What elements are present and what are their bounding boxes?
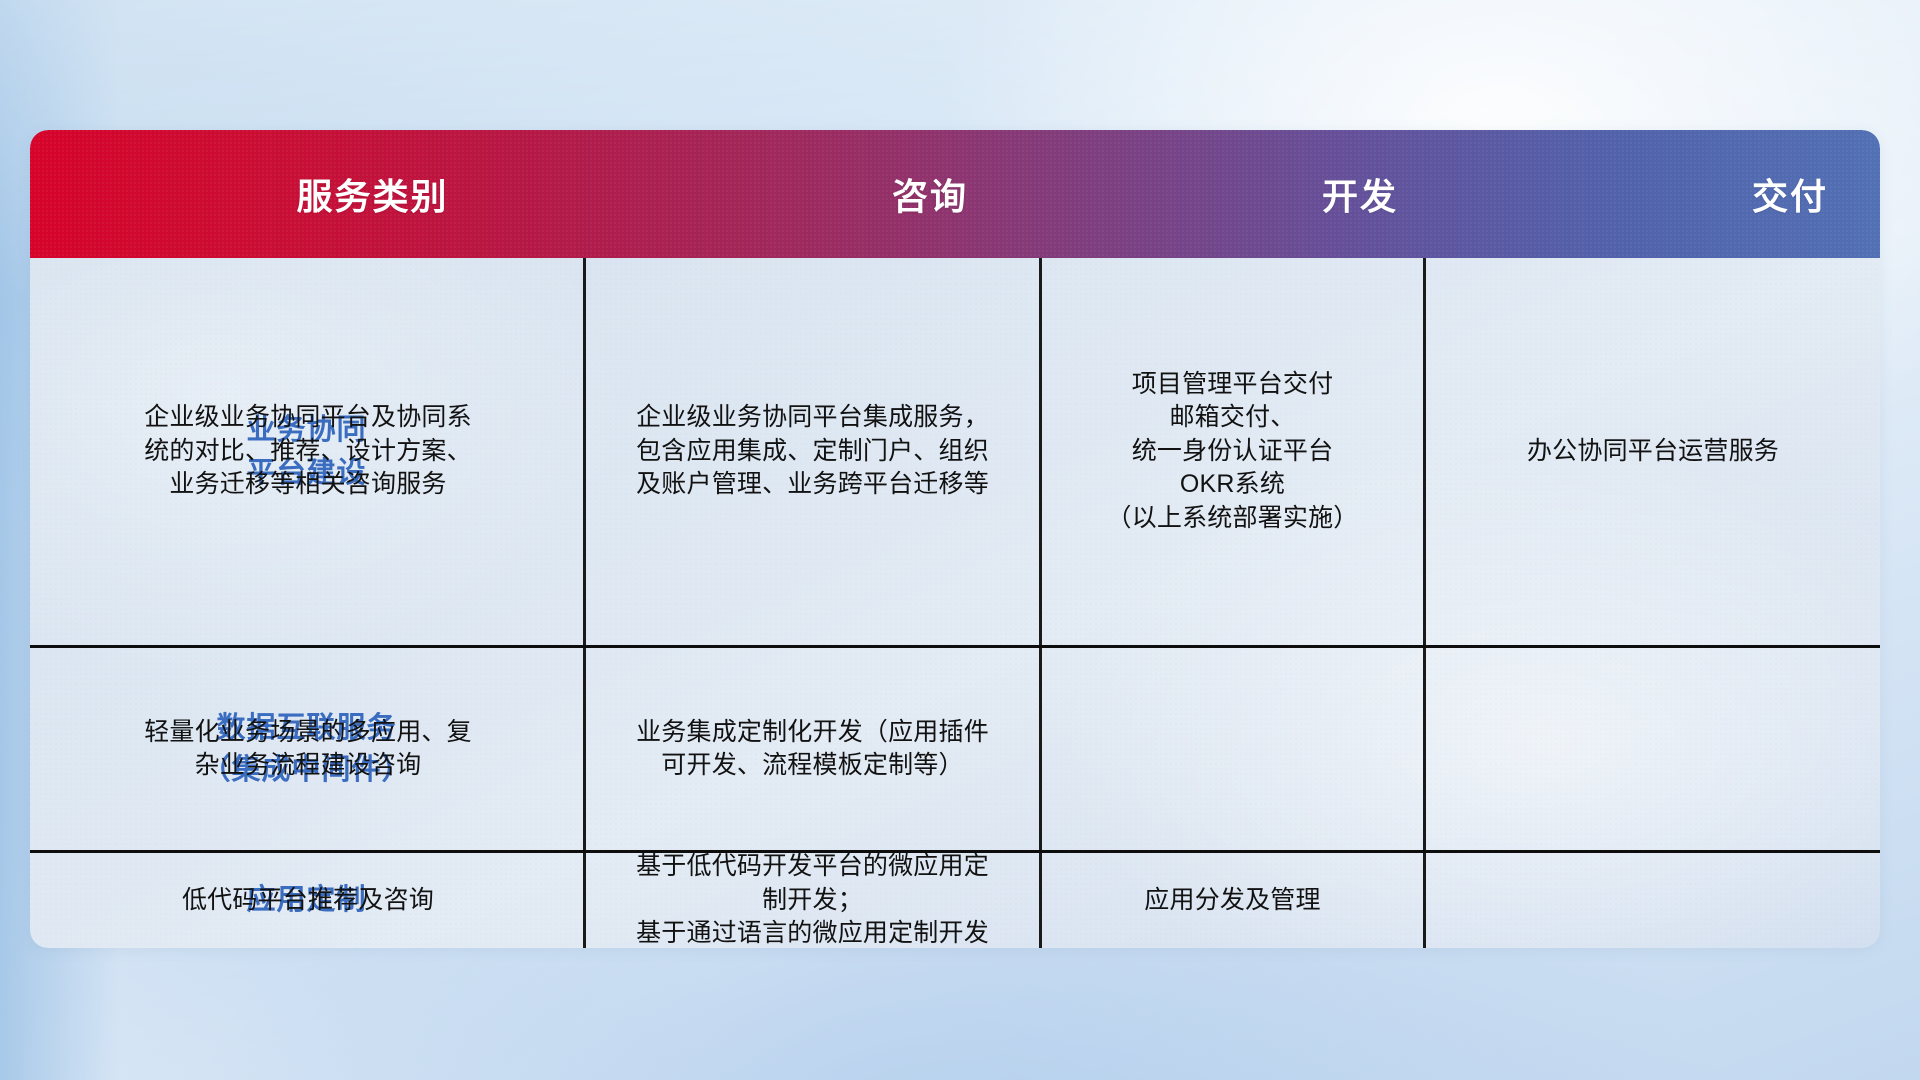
column-header-delivery[interactable]: 交付 — [1575, 130, 1880, 258]
table-header-row: 服务类别 咨询 开发 交付 — [30, 130, 1880, 258]
table-body: 业务协同 平台建设 企业级业务协同平台及协同系 统的对比、推荐、设计方案、 业务… — [30, 258, 1880, 948]
column-header-development[interactable]: 开发 — [1145, 130, 1575, 258]
cell-r3-consulting: 低代码平台推荐及咨询 — [33, 853, 583, 948]
cell-r1-operations: 办公协同平台运营服务 — [1426, 258, 1880, 645]
cell-r2-delivery — [1042, 648, 1423, 850]
cell-r2-consulting: 轻量化业务场景的多应用、复 杂业务流程建设咨询 — [33, 648, 583, 850]
cell-r3-development: 基于低代码开发平台的微应用定 制开发； 基于通过语言的微应用定制开发 — [586, 853, 1039, 948]
services-matrix-table: 服务类别 咨询 开发 交付 业务协同 平台建设 企业级业务协同平台及协同系 统的… — [30, 130, 1880, 948]
cell-r1-consulting: 企业级业务协同平台及协同系 统的对比、推荐、设计方案、 业务迁移等相关咨询服务 — [33, 258, 583, 645]
cell-r1-delivery: 项目管理平台交付 邮箱交付、 统一身份认证平台 OKR系统 （以上系统部署实施） — [1042, 258, 1423, 645]
cell-r2-operations — [1426, 648, 1880, 850]
column-header-category[interactable]: 服务类别 — [30, 130, 715, 258]
cell-r3-operations — [1426, 853, 1880, 948]
cell-r3-delivery: 应用分发及管理 — [1042, 853, 1423, 948]
column-header-consulting[interactable]: 咨询 — [715, 130, 1145, 258]
cell-r1-development: 企业级业务协同平台集成服务， 包含应用集成、定制门户、组织 及账户管理、业务跨平… — [586, 258, 1039, 645]
cell-r2-development: 业务集成定制化开发（应用插件 可开发、流程模板定制等） — [586, 648, 1039, 850]
